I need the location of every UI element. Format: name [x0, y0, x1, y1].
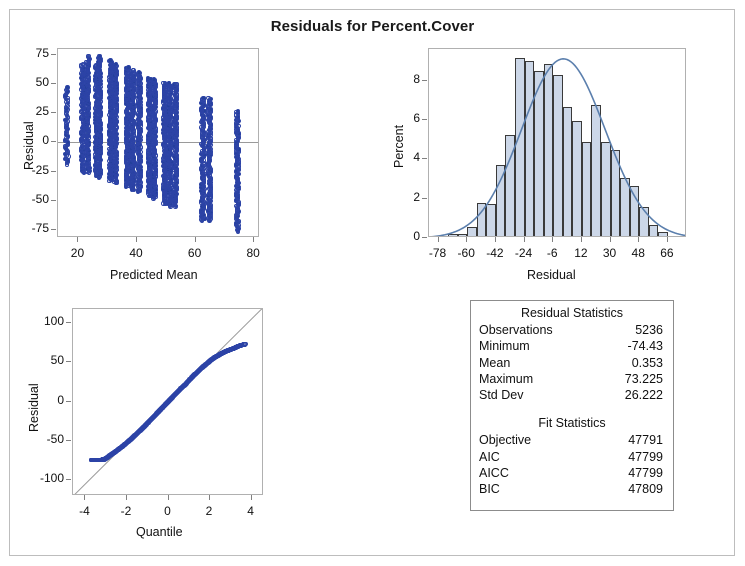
qq-y-tick-label: -50 [20, 432, 64, 446]
scatter-y-tick-label: 50 [9, 75, 49, 89]
scatter-x-tick-label: 60 [175, 246, 215, 260]
scatter-y-tick [51, 200, 56, 201]
residual-vs-predicted-scatter: Residual Predicted Mean 7550250-25-50-75… [0, 0, 370, 290]
qq-x-tick-label: 2 [189, 504, 229, 518]
fit-statistics-rows: Objective47791AIC47799AICC47799BIC47809 [471, 432, 673, 497]
qq-x-axis-label: Quantile [136, 525, 183, 539]
qq-y-tick-label: 50 [20, 353, 64, 367]
histogram-x-tick-label: 66 [647, 246, 687, 260]
histogram-bar [439, 236, 449, 237]
scatter-point [206, 96, 210, 100]
stats-spacer [471, 403, 673, 415]
histogram-y-tick-label: 4 [388, 150, 420, 164]
residual-stats-row: Maximum73.225 [471, 371, 673, 387]
histogram-plot-area [428, 48, 686, 237]
qq-y-tick-label: -100 [20, 471, 64, 485]
residual-stats-row: Mean0.353 [471, 355, 673, 371]
stats-row-label: Std Dev [479, 387, 523, 403]
qq-x-tick [209, 495, 210, 500]
scatter-x-tick-label: 80 [233, 246, 273, 260]
scatter-point [201, 96, 205, 100]
qq-y-tick-label: 0 [20, 393, 64, 407]
scatter-y-tick [51, 83, 56, 84]
scatter-point [174, 82, 178, 86]
scatter-x-tick [195, 237, 196, 242]
residual-histogram: Percent Residual 86420-78-60-42-24-61230… [370, 0, 745, 290]
residual-statistics-heading: Residual Statistics [471, 305, 673, 322]
residual-stats-row: Observations5236 [471, 322, 673, 338]
stats-row-label: AIC [479, 449, 500, 465]
histogram-y-tick [422, 119, 427, 120]
fit-stats-row: AICC47799 [471, 465, 673, 481]
stats-row-label: BIC [479, 481, 500, 497]
qq-y-tick [66, 361, 71, 362]
fit-stats-row: BIC47809 [471, 481, 673, 497]
residual-stats-row: Std Dev26.222 [471, 387, 673, 403]
scatter-y-tick-label: 25 [9, 104, 49, 118]
stats-row-value: 47799 [628, 465, 663, 481]
qq-point [243, 342, 247, 346]
scatter-x-tick [253, 237, 254, 242]
stats-row-value: 47809 [628, 481, 663, 497]
scatter-point [108, 58, 112, 62]
scatter-y-tick [51, 54, 56, 55]
histogram-y-tick [422, 198, 427, 199]
scatter-x-tick [77, 237, 78, 242]
histogram-x-axis-label: Residual [527, 268, 576, 282]
scatter-y-tick-label: 75 [9, 46, 49, 60]
histogram-x-tick [552, 237, 553, 242]
stats-row-value: 5236 [635, 322, 663, 338]
stats-row-label: AICC [479, 465, 509, 481]
scatter-x-axis-label: Predicted Mean [110, 268, 198, 282]
qq-x-tick [84, 495, 85, 500]
qq-y-tick [66, 401, 71, 402]
histogram-bar [668, 236, 678, 237]
scatter-plot-area [57, 48, 259, 237]
qq-x-tick [251, 495, 252, 500]
qq-x-tick-label: 0 [148, 504, 188, 518]
histogram-y-tick [422, 237, 427, 238]
histogram-y-tick-label: 0 [388, 229, 420, 243]
scatter-point [137, 70, 141, 74]
scatter-y-tick [51, 171, 56, 172]
histogram-y-tick-label: 8 [388, 72, 420, 86]
histogram-x-tick [581, 237, 582, 242]
fit-statistics-heading: Fit Statistics [471, 415, 673, 432]
qq-y-tick [66, 479, 71, 480]
stats-row-label: Minimum [479, 338, 530, 354]
qq-x-tick-label: -4 [64, 504, 104, 518]
scatter-y-tick-label: -25 [9, 163, 49, 177]
statistics-table: Residual Statistics Observations5236Mini… [470, 300, 674, 511]
stats-row-label: Mean [479, 355, 510, 371]
histogram-x-tick [495, 237, 496, 242]
histogram-x-tick [524, 237, 525, 242]
histogram-x-tick [610, 237, 611, 242]
stats-row-value: -74.43 [628, 338, 663, 354]
stats-row-label: Observations [479, 322, 553, 338]
normal-density-curve [429, 49, 686, 237]
qq-y-tick [66, 440, 71, 441]
scatter-point [65, 85, 69, 89]
histogram-y-tick-label: 6 [388, 111, 420, 125]
qq-x-tick-label: -2 [106, 504, 146, 518]
stats-row-label: Maximum [479, 371, 533, 387]
scatter-y-tick-label: -50 [9, 192, 49, 206]
residual-stats-row: Minimum-74.43 [471, 338, 673, 354]
scatter-point [152, 77, 156, 81]
stats-row-value: 73.225 [625, 371, 663, 387]
scatter-y-tick-label: 0 [9, 133, 49, 147]
scatter-y-tick-label: -75 [9, 221, 49, 235]
scatter-y-tick [51, 112, 56, 113]
qq-x-tick [168, 495, 169, 500]
qq-x-tick [126, 495, 127, 500]
scatter-y-tick [51, 229, 56, 230]
histogram-x-tick [466, 237, 467, 242]
stats-row-value: 47791 [628, 432, 663, 448]
stats-row-value: 47799 [628, 449, 663, 465]
qq-plot-area [72, 308, 263, 495]
fit-stats-row: AIC47799 [471, 449, 673, 465]
stats-row-label: Objective [479, 432, 531, 448]
residual-statistics-rows: Observations5236Minimum-74.43Mean0.353Ma… [471, 322, 673, 403]
residual-qq-plot: Residual Quantile 100500-50-100-4-2024 [0, 290, 370, 566]
scatter-point [161, 81, 165, 85]
scatter-x-tick-label: 40 [116, 246, 156, 260]
qq-y-tick [66, 322, 71, 323]
fit-stats-row: Objective47791 [471, 432, 673, 448]
histogram-x-tick [438, 237, 439, 242]
scatter-y-tick [51, 141, 56, 142]
residual-diagnostics-panel: Residuals for Percent.Cover Residual Pre… [0, 0, 745, 566]
histogram-y-tick [422, 80, 427, 81]
histogram-y-tick [422, 158, 427, 159]
stats-row-value: 0.353 [632, 355, 663, 371]
stats-row-value: 26.222 [625, 387, 663, 403]
qq-y-axis-label: Residual [27, 383, 41, 432]
histogram-x-tick [667, 237, 668, 242]
scatter-x-tick [136, 237, 137, 242]
qq-x-tick-label: 4 [231, 504, 271, 518]
scatter-x-tick-label: 20 [57, 246, 97, 260]
histogram-y-tick-label: 2 [388, 190, 420, 204]
scatter-point [86, 54, 90, 58]
qq-y-tick-label: 100 [20, 314, 64, 328]
histogram-x-tick [638, 237, 639, 242]
